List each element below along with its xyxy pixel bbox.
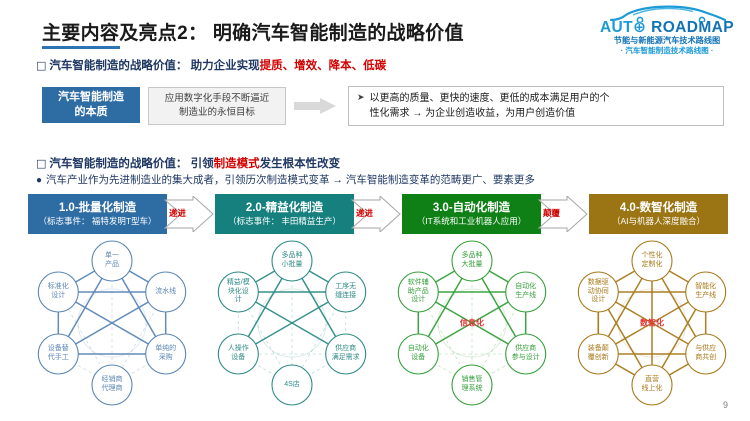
logo-brand-text: AUT⊕ ROADMAP bbox=[592, 20, 742, 35]
logo-subtitle-cn: 节能与新能源汽车技术路线图 bbox=[592, 35, 742, 46]
stage-title: 3.0-自动化制造 bbox=[433, 201, 510, 215]
hex-center-label: 数智化 bbox=[640, 318, 664, 329]
lean-manufacturing-hex: 多品种 小批量工序无 缝连接供应商 满足需求4S店人操作 设备精益/模 块化设 … bbox=[202, 238, 382, 413]
essence-description-box: 应用数字化手段不断逼近 制造业的永恒目标 bbox=[148, 87, 286, 125]
automated-manufacturing-hex: 多品种 大批量自动化 生产线供应商 参与设计销售管 理系统自动化 设备软件辅 助… bbox=[382, 238, 562, 413]
slide-root: AUT⊕ ROADMAP 节能与新能源汽车技术路线图 · 汽车智能制造技术路线图… bbox=[0, 0, 750, 421]
section2-label-post: 发生根本性改变 bbox=[260, 158, 341, 170]
stage-subtitle: （IT系统和工业机器人应用） bbox=[417, 215, 527, 227]
stage-subtitle: （标志事件： 福特发明T型车） bbox=[38, 215, 156, 227]
page-number: 9 bbox=[723, 400, 728, 410]
round-bullet-icon: ● bbox=[36, 175, 42, 186]
stage-title: 2.0-精益化制造 bbox=[246, 201, 323, 215]
section1-heading: □汽车智能制造的战略价值： 助力企业实现提质、增效、降本、低碳 bbox=[36, 57, 386, 73]
stage-box-3[interactable]: 3.0-自动化制造（IT系统和工业机器人应用） bbox=[402, 194, 541, 234]
stage-box-2[interactable]: 2.0-精益化制造（标志事件： 丰田精益生产） bbox=[215, 194, 354, 234]
section2-label-pre: 汽车智能制造的战略价值： 引领 bbox=[49, 158, 213, 170]
section2-label-highlight: 制造模式 bbox=[214, 158, 260, 170]
logo-subtitle-cn2: · 汽车智能制造技术路线图 · bbox=[592, 46, 742, 56]
section2-heading: □汽车智能制造的战略价值： 引领制造模式发生根本性改变 bbox=[36, 155, 340, 171]
digital-intelligent-manufacturing-hex: 个性化 定制化智能化 生产线与供应 商共创直营 线上化装备颠 覆创新数据驱 动协… bbox=[562, 238, 742, 413]
connector-label: 递进 bbox=[351, 207, 378, 219]
stage-subtitle: （AI与机器人深度融合） bbox=[612, 215, 705, 227]
right-arrow-icon bbox=[294, 98, 336, 114]
stage-box-1[interactable]: 1.0-批量化制造（标志事件： 福特发明T型车） bbox=[28, 194, 167, 234]
section2-subtext-label: 汽车产业作为先进制造业的集大成者，引领历次制造模式变革 → 汽车智能制造变革的范… bbox=[46, 174, 535, 186]
stage-subtitle: （标志事件： 丰田精益生产） bbox=[228, 215, 341, 227]
strategic-value-result-box: ➤ 以更高的质量、更快的速度、更低的成本满足用户的个 性化需求 → 为企业创造收… bbox=[348, 86, 724, 126]
page-title: 主要内容及亮点2： 明确汽车智能制造的战略价值 bbox=[42, 18, 464, 45]
stage-title: 4.0-数智化制造 bbox=[620, 201, 697, 215]
title-underline bbox=[42, 46, 120, 49]
square-bullet-icon-2: □ bbox=[36, 157, 46, 170]
section1-label: 汽车智能制造的战略价值： 助力企业实现 bbox=[49, 60, 259, 72]
stage-connector-1: 递进 bbox=[163, 196, 211, 232]
car-silhouette-icon bbox=[592, 4, 742, 21]
arrow-bullet-icon: ➤ bbox=[357, 92, 365, 103]
strategic-value-result-text: 以更高的质量、更快的速度、更低的成本满足用户的个 性化需求 → 为企业创造收益，… bbox=[370, 91, 610, 121]
connector-label: 颠覆 bbox=[538, 207, 565, 219]
connector-label: 递进 bbox=[164, 207, 191, 219]
stage-title: 1.0-批量化制造 bbox=[59, 201, 136, 215]
batch-manufacturing-hex: 单一 产品流水线单纯的 采购经销商 代理商设备替 代手工标准化 设计 bbox=[22, 238, 202, 413]
section1-highlight: 提质、增效、降本、低碳 bbox=[260, 60, 387, 72]
manufacturing-stages-banner: 1.0-批量化制造（标志事件： 福特发明T型车）递进2.0-精益化制造（标志事件… bbox=[28, 194, 728, 234]
stage-connector-2: 递进 bbox=[350, 196, 398, 232]
stage-box-4[interactable]: 4.0-数智化制造（AI与机器人深度融合） bbox=[589, 194, 728, 234]
stage-connector-3: 颠覆 bbox=[537, 196, 585, 232]
section2-subtext: ●汽车产业作为先进制造业的集大成者，引领历次制造模式变革 → 汽车智能制造变革的… bbox=[36, 172, 535, 187]
essence-title-box: 汽车智能制造 的本质 bbox=[42, 87, 140, 123]
hex-center-label: 信息化 bbox=[460, 318, 484, 329]
square-bullet-icon: □ bbox=[36, 59, 46, 72]
auto-roadmap-logo: AUT⊕ ROADMAP 节能与新能源汽车技术路线图 · 汽车智能制造技术路线图… bbox=[592, 4, 742, 60]
